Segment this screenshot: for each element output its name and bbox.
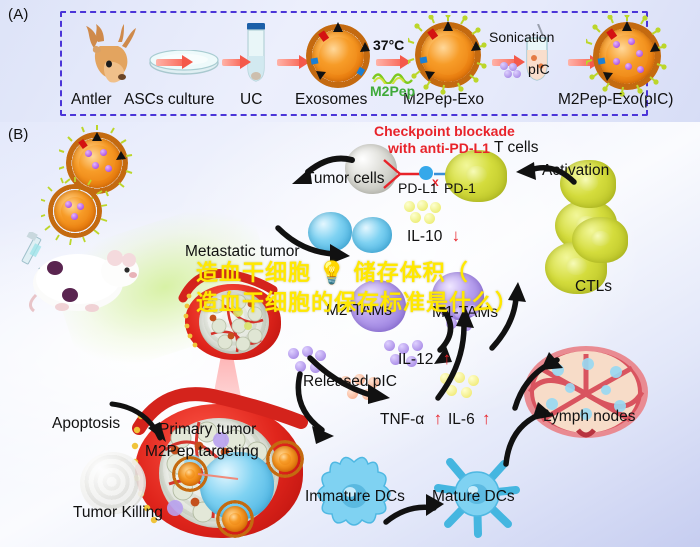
label-sonication: Sonication xyxy=(489,30,554,44)
watermark-line-1: 造血干细胞 💡 储存体积（ xyxy=(196,258,546,288)
label-uc: UC xyxy=(240,92,262,108)
label-ctls: CTLs xyxy=(575,279,612,295)
exosome-loaded-icon xyxy=(599,28,655,84)
immune-cell-icon-2 xyxy=(352,217,392,253)
il-12-up-arrow-icon: ↑ xyxy=(443,349,452,368)
targeting-link-icon xyxy=(196,466,242,484)
label-m2pep: M2Pep xyxy=(370,84,415,98)
label-immature-dcs: Immature DCs xyxy=(305,489,405,505)
exosome-peptide-icon xyxy=(421,28,475,82)
exosome-icon xyxy=(312,30,364,82)
scientific-figure: (A) xyxy=(0,0,700,547)
targeting-exosome-icon-3 xyxy=(222,506,248,532)
label-primary-tumor: Primary tumor xyxy=(159,422,256,438)
il-10-down-arrow-icon: ↓ xyxy=(452,226,461,245)
label-il-6: IL-6 ↑ xyxy=(448,410,491,428)
label-mature-dcs: Mature DCs xyxy=(432,489,515,505)
il-6-up-arrow-icon: ↑ xyxy=(482,409,491,428)
label-apoptosis: Apoptosis xyxy=(52,416,120,432)
label-tumor-cells: Tumor cells xyxy=(305,171,385,187)
panel-b: (B) xyxy=(0,122,700,547)
label-ascs-culture: ASCs culture xyxy=(124,92,214,108)
label-pd-l1: PD-L1 xyxy=(398,181,438,195)
tnf-alpha-up-arrow-icon: ↑ xyxy=(434,409,443,428)
label-activation: Activation xyxy=(542,163,609,179)
label-m2pep-targeting: M2Pep targeting xyxy=(145,444,259,460)
pic-particles-icon xyxy=(500,62,524,78)
label-tnf-alpha: TNF-α ↑ xyxy=(380,410,442,428)
il-10-particles-icon xyxy=(404,200,444,226)
label-released-pic: Released pIC xyxy=(303,374,397,390)
chinese-watermark-overlay: 造血干细胞 💡 储存体积（ 造血干细胞的保存标准是什么） xyxy=(196,258,546,318)
panel-a-letter: (A) xyxy=(8,6,29,23)
label-m2pep-exo: M2Pep-Exo xyxy=(403,92,484,108)
ctl-cell-icon-1 xyxy=(572,217,628,263)
label-il-10: IL-10 ↓ xyxy=(407,227,460,245)
mouse-icon xyxy=(22,237,142,319)
label-tnf-alpha-text: TNF-α xyxy=(380,411,424,428)
label-checkpoint-blockade-2: with anti-PD-L1 xyxy=(388,141,490,155)
deer-icon xyxy=(78,22,150,84)
label-checkpoint-blockade-1: Checkpoint blockade xyxy=(374,124,515,138)
panel-a: (A) xyxy=(0,0,700,122)
label-il-12-text: IL-12 xyxy=(398,351,433,368)
label-antler: Antler xyxy=(71,92,112,108)
label-tumor-killing: Tumor Killing xyxy=(73,505,163,521)
watermark-line-2: 造血干细胞的保存标准是什么） xyxy=(196,288,546,318)
m2pep-peptide-icon xyxy=(372,70,414,84)
label-il-6-text: IL-6 xyxy=(448,411,475,428)
label-pd-1: PD-1 xyxy=(444,181,476,195)
label-il-10-text: IL-10 xyxy=(407,228,442,245)
label-il-12: IL-12 ↑ xyxy=(398,350,451,368)
label-m2pep-exo-pic: M2Pep-Exo(pIC) xyxy=(558,92,673,108)
label-lymph-nodes: Lymph nodes xyxy=(543,409,636,425)
centrifuge-tube-icon xyxy=(243,23,269,83)
arrow-lymph-outbound xyxy=(509,350,565,416)
label-exosomes: Exosomes xyxy=(295,92,367,108)
label-temperature: 37°C xyxy=(373,38,404,52)
panel-b-letter: (B) xyxy=(8,126,29,143)
label-t-cells: T cells xyxy=(494,140,539,156)
label-pic: pIC xyxy=(528,62,550,76)
injected-exosome-icon-2 xyxy=(54,190,96,232)
